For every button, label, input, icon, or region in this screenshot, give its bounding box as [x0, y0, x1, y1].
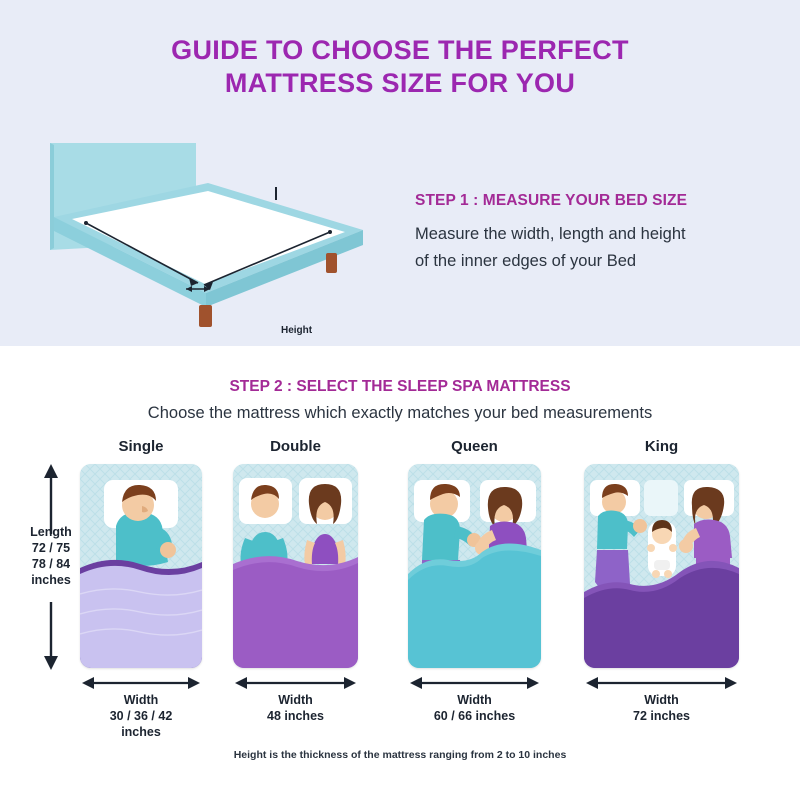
- width-label-single: Width 30 / 36 / 42 inches: [80, 692, 202, 740]
- mattress-title-king: King: [584, 438, 739, 455]
- width-arrow-single: [80, 676, 202, 690]
- width-values-queen: 60 / 66 inches: [408, 708, 541, 724]
- width-values-double: 48 inches: [233, 708, 358, 724]
- mattress-card-queen[interactable]: [408, 464, 541, 668]
- bed-illustration: Height Length Width: [38, 135, 378, 340]
- mattress-illustration-king: [584, 464, 739, 668]
- width-unit-single: inches: [80, 724, 202, 740]
- width-label-king: Width 72 inches: [584, 692, 739, 724]
- step-1-body-line-1: Measure the width, length and height: [415, 221, 765, 248]
- bed-height-label: Height: [281, 325, 312, 336]
- mattress-title-single: Single: [80, 438, 202, 455]
- mattress-card-single[interactable]: [80, 464, 202, 668]
- page-title-line-1: GUIDE TO CHOOSE THE PERFECT: [0, 34, 800, 67]
- width-arrow-queen: [408, 676, 541, 690]
- width-label-double: Width 48 inches: [233, 692, 358, 724]
- width-values-single: 30 / 36 / 42: [80, 708, 202, 724]
- infographic-page: GUIDE TO CHOOSE THE PERFECT MATTRESS SIZ…: [0, 0, 800, 800]
- top-section: GUIDE TO CHOOSE THE PERFECT MATTRESS SIZ…: [0, 0, 800, 346]
- width-arrow-double: [233, 676, 358, 690]
- step-1-body: Measure the width, length and height of …: [415, 221, 765, 275]
- width-arrow-king: [584, 676, 739, 690]
- mattress-illustration-single: [80, 464, 202, 668]
- width-label-text-single: Width: [80, 692, 202, 708]
- width-label-text-queen: Width: [408, 692, 541, 708]
- step-2-heading: STEP 2 : SELECT THE SLEEP SPA MATTRESS: [0, 378, 800, 396]
- bottom-section: STEP 2 : SELECT THE SLEEP SPA MATTRESS C…: [0, 346, 800, 800]
- mattress-illustration-queen: [408, 464, 541, 668]
- step-1-block: STEP 1 : MEASURE YOUR BED SIZE Measure t…: [415, 192, 765, 275]
- mattress-title-queen: Queen: [408, 438, 541, 455]
- page-title: GUIDE TO CHOOSE THE PERFECT MATTRESS SIZ…: [0, 34, 800, 100]
- width-values-king: 72 inches: [584, 708, 739, 724]
- width-label-text-king: Width: [584, 692, 739, 708]
- bed-svg: [38, 135, 378, 340]
- width-label-text-double: Width: [233, 692, 358, 708]
- step-2-subheading: Choose the mattress which exactly matche…: [0, 404, 800, 423]
- mattress-illustration-double: [233, 464, 358, 668]
- mattress-card-king[interactable]: [584, 464, 739, 668]
- step-1-body-line-2: of the inner edges of your Bed: [415, 248, 765, 275]
- mattress-title-double: Double: [233, 438, 358, 455]
- footer-note: Height is the thickness of the mattress …: [0, 749, 800, 761]
- mattress-card-double[interactable]: [233, 464, 358, 668]
- step-1-heading: STEP 1 : MEASURE YOUR BED SIZE: [415, 192, 765, 210]
- width-label-queen: Width 60 / 66 inches: [408, 692, 541, 724]
- page-title-line-2: MATTRESS SIZE FOR YOU: [0, 67, 800, 100]
